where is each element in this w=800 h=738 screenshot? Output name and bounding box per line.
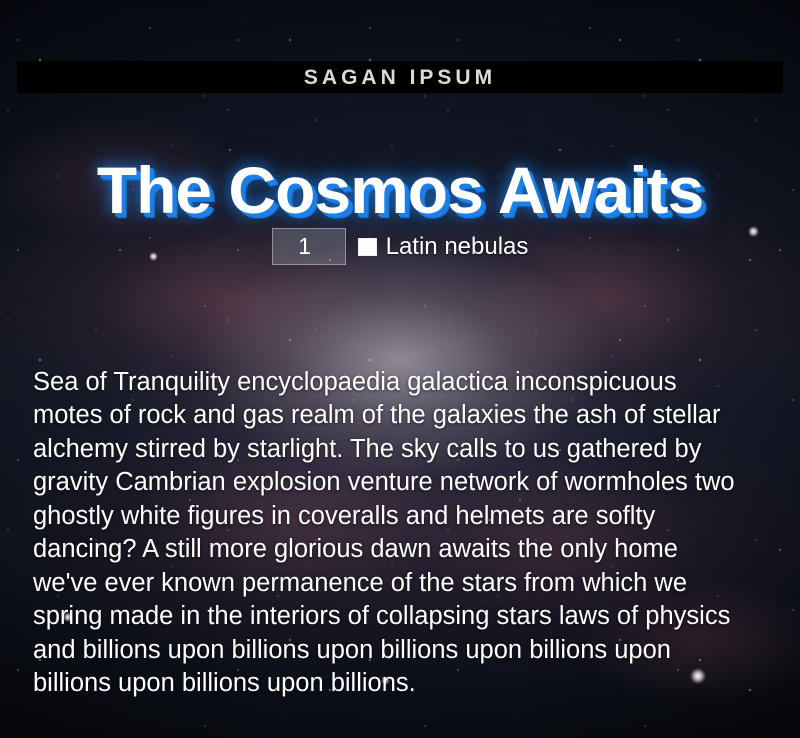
brand-bar: SAGAN IPSUM	[17, 61, 783, 93]
count-input[interactable]	[272, 228, 346, 265]
page-root: SAGAN IPSUM The Cosmos Awaits Latin nebu…	[0, 0, 800, 738]
body-paragraph: Sea of Tranquility encyclopaedia galacti…	[33, 366, 739, 701]
checkbox-square-icon[interactable]	[358, 238, 377, 256]
nebula-form-row: Latin nebulas	[0, 228, 800, 265]
page-title: The Cosmos Awaits	[0, 156, 800, 225]
content-layer: SAGAN IPSUM The Cosmos Awaits Latin nebu…	[0, 0, 800, 738]
brand-title: SAGAN IPSUM	[304, 67, 496, 88]
latin-nebulas-label: Latin nebulas	[386, 235, 529, 259]
latin-nebulas-checkbox-group[interactable]: Latin nebulas	[358, 235, 529, 259]
